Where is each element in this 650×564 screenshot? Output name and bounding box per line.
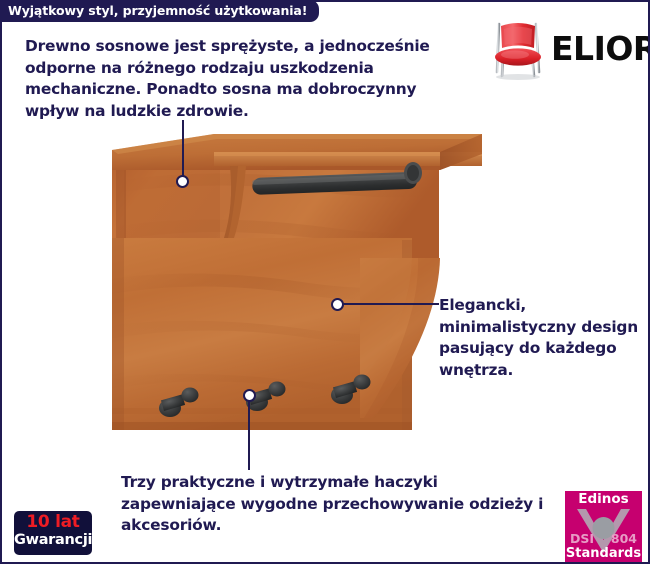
callout-right-text: Elegancki, minimalistyczny design pasują… xyxy=(439,295,639,381)
warranty-years-label: 10 lat xyxy=(14,513,92,532)
warranty-badge: 10 lat Gwarancji xyxy=(14,511,92,555)
leader-dot-bottom xyxy=(243,389,256,402)
warranty-word-label: Gwarancji xyxy=(14,532,92,549)
edinos-dsi-label: DSI xyxy=(570,531,594,546)
leader-line-bottom xyxy=(248,400,250,470)
brand-wordmark: ELIOR xyxy=(551,32,650,66)
edinos-title-label: Edinos xyxy=(565,492,642,507)
edinos-standards-badge: Edinos DSI 804 Standards xyxy=(565,491,642,564)
edinos-standards-label: Standards xyxy=(565,546,642,561)
callout-bottom-text: Trzy praktyczne i wytrzymałe haczyki zap… xyxy=(121,472,551,537)
leader-dot-top xyxy=(176,175,189,188)
shelf-top-surface xyxy=(112,134,482,170)
infographic-canvas: Wyjątkowy styl, przyjemność użytkowania!… xyxy=(0,0,650,564)
intro-paragraph: Drewno sosnowe jest sprężyste, a jednocz… xyxy=(25,36,457,122)
leader-line-right xyxy=(343,303,439,305)
edinos-number-label: 804 xyxy=(611,531,637,546)
leader-dot-right xyxy=(331,298,344,311)
brand-logo: ELIOR xyxy=(489,18,639,80)
leader-line-top xyxy=(182,120,184,182)
product-illustration xyxy=(102,130,487,442)
red-chair-icon xyxy=(489,18,547,80)
title-banner: Wyjątkowy styl, przyjemność użytkowania! xyxy=(0,0,319,22)
